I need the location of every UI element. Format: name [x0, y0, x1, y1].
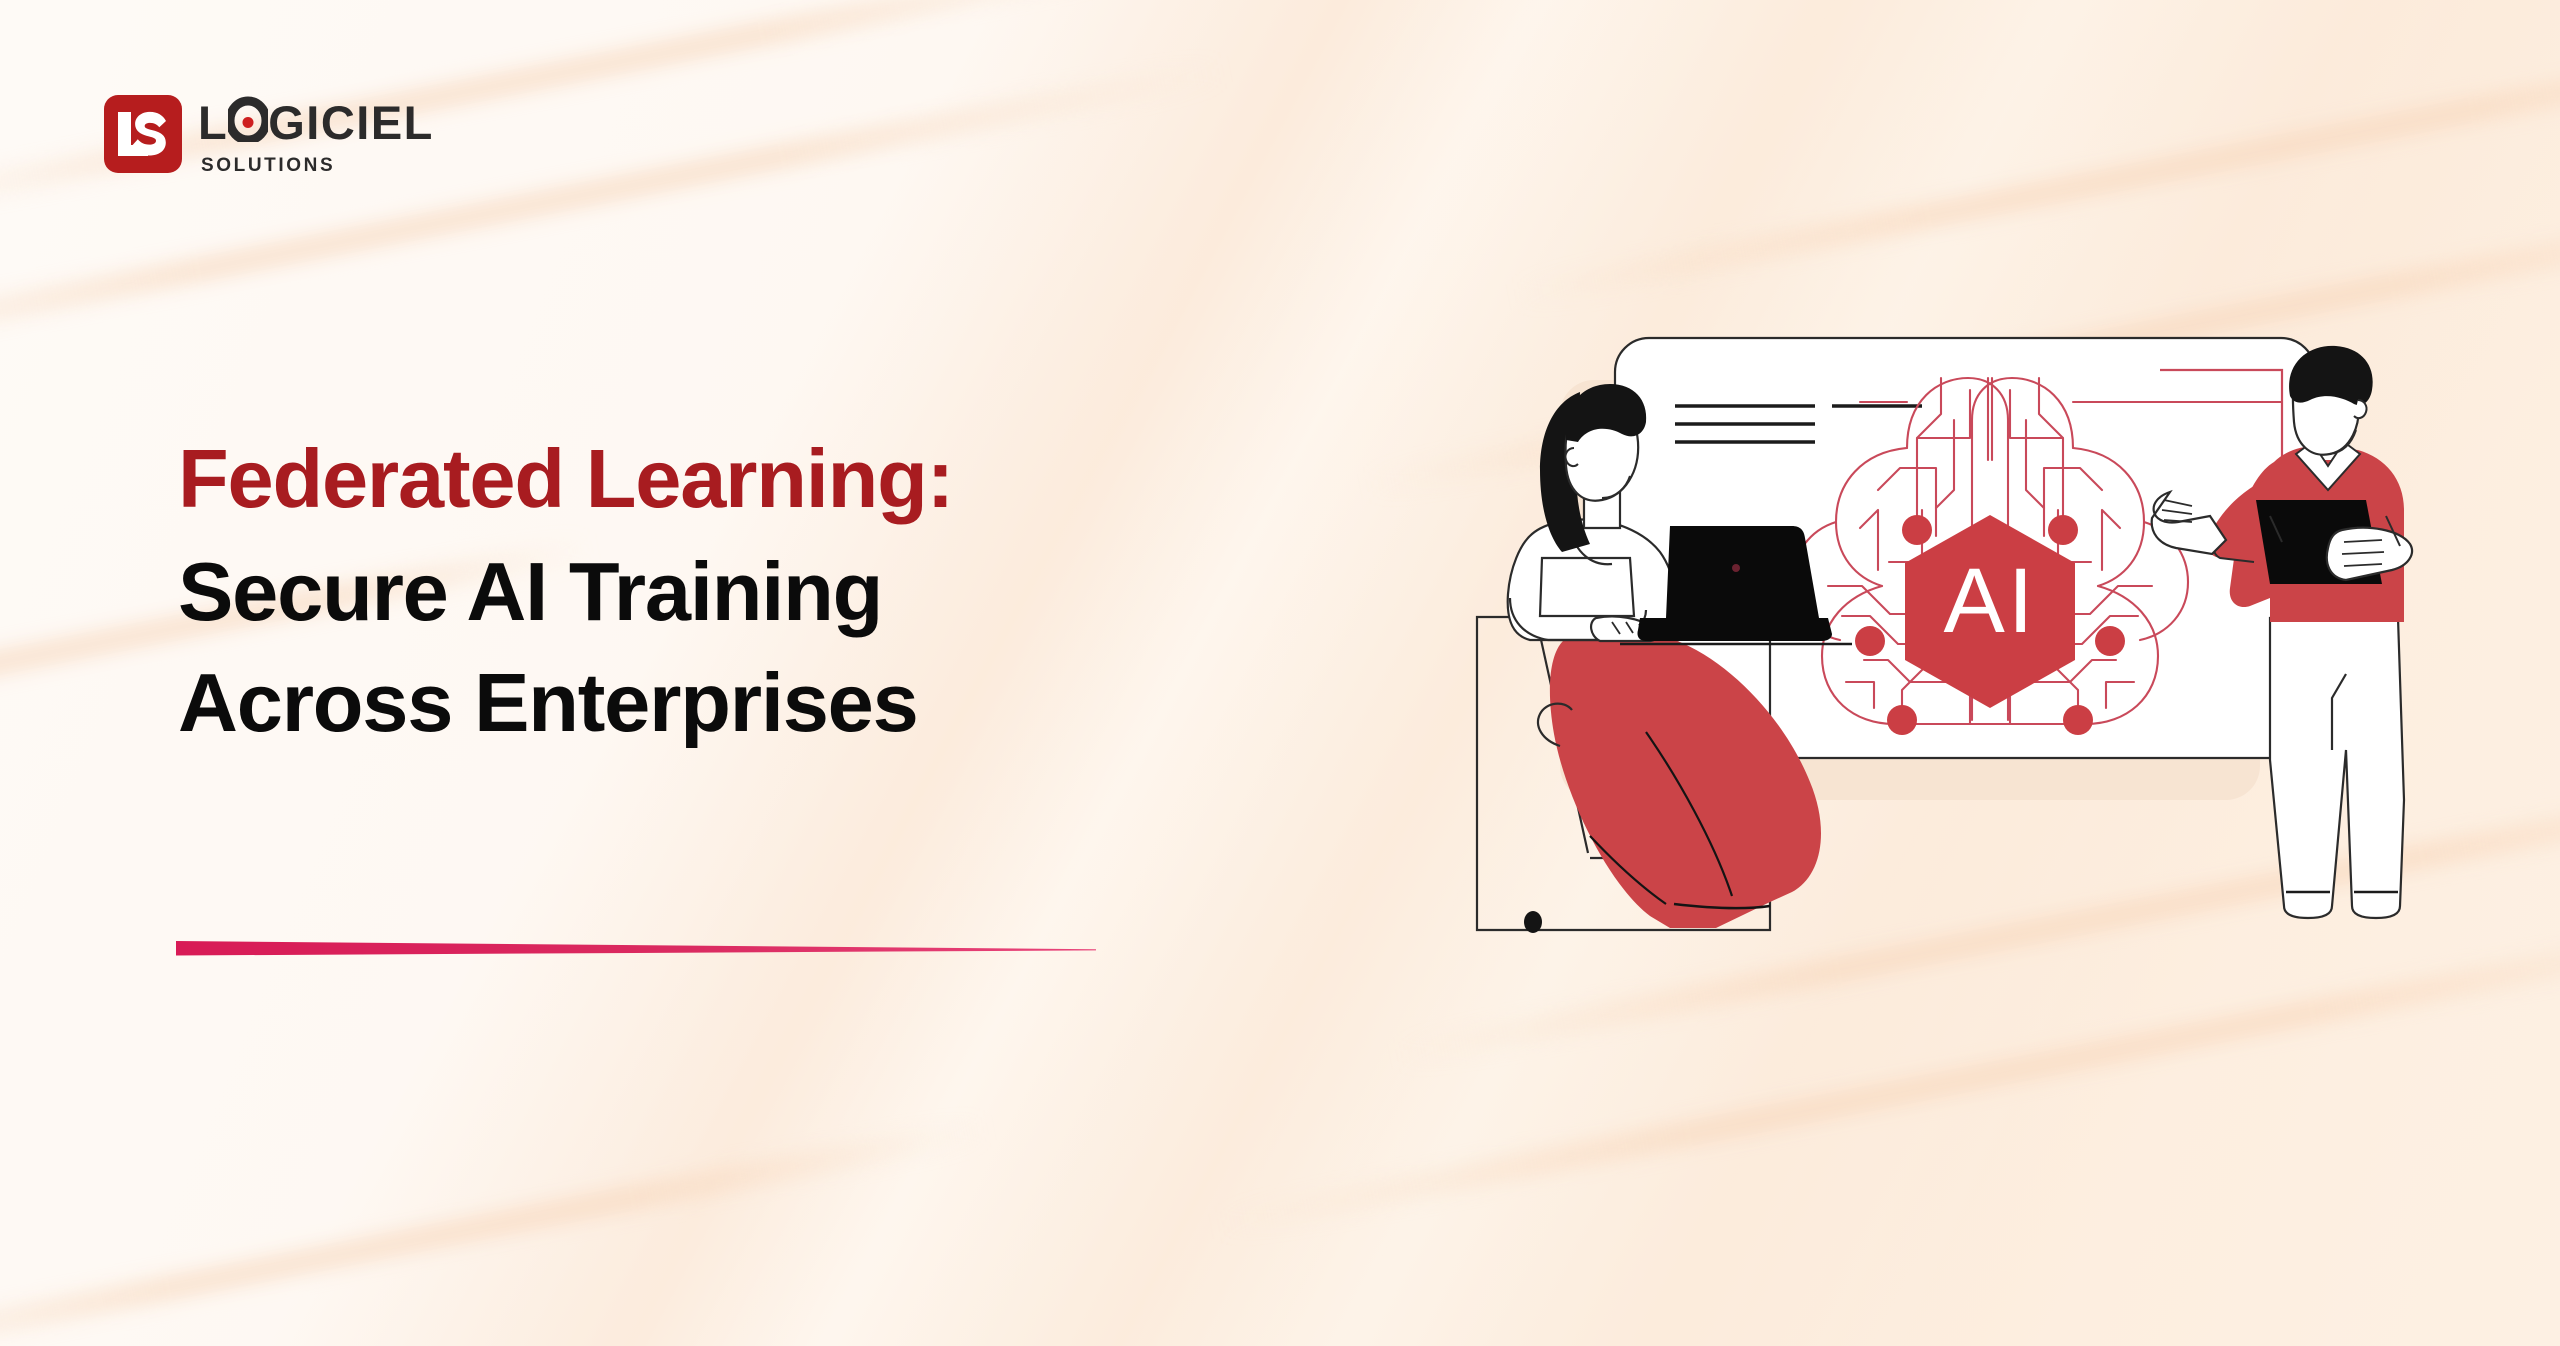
- brand-logo[interactable]: LGICIEL SOLUTIONS: [104, 92, 434, 175]
- man-pants: [2270, 618, 2404, 918]
- circuit-node: [1887, 705, 1917, 735]
- headline-line-1: Federated Learning:: [178, 430, 1358, 527]
- laptop-logo-dot: [1732, 564, 1740, 572]
- laptop-base: [1637, 618, 1832, 641]
- logo-target-dot: [243, 117, 254, 128]
- ls-monogram-icon: [114, 109, 172, 159]
- page-title: Federated Learning: Secure AI Training A…: [178, 430, 1358, 751]
- ai-badge-label: AI: [1944, 550, 2037, 652]
- circuit-node: [2048, 515, 2078, 545]
- logo-name-main: LGICIEL: [198, 95, 434, 149]
- accent-underline: [176, 938, 1096, 960]
- streak: [0, 1116, 991, 1346]
- logo-name-l: L: [198, 99, 228, 146]
- logo-target-o-icon: [228, 95, 268, 149]
- hero-illustration: AI: [1470, 330, 2490, 1010]
- circuit-node: [2095, 626, 2125, 656]
- circuit-node: [2063, 705, 2093, 735]
- banner-canvas: LGICIEL SOLUTIONS Federated Learning: Se…: [0, 0, 2560, 1346]
- headline-line-3: Across Enterprises: [178, 654, 1358, 751]
- accent-wedge-icon: [176, 938, 1096, 960]
- streak: [1510, 17, 2560, 310]
- circuit-node: [1902, 515, 1932, 545]
- woman-top-panel: [1540, 558, 1634, 616]
- logo-name-rest: GICIEL: [268, 99, 434, 146]
- circuit-node: [1855, 626, 1885, 656]
- laptop-screen: [1666, 526, 1819, 618]
- logo-mark-ls: [104, 95, 182, 173]
- headline-line-2: Secure AI Training: [178, 543, 1358, 640]
- desk-foot: [1524, 911, 1542, 933]
- logo-name-sub: SOLUTIONS: [201, 156, 434, 175]
- logo-wordmark: LGICIEL SOLUTIONS: [198, 92, 434, 175]
